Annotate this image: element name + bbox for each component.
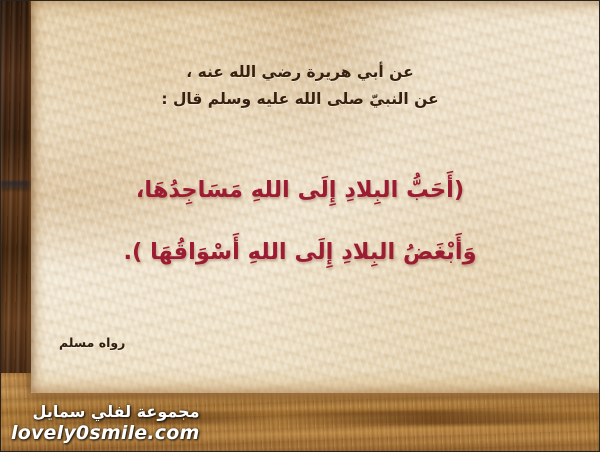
hadith-line-1: (أَحَبُّ البِلادِ إِلَى اللهِ مَسَاجِدُه… (1, 159, 599, 221)
isnad-header: عن أبي هريرة رضي الله عنه ، عن النبيّ صل… (1, 59, 599, 113)
paper-torn-edge-bottom (31, 371, 600, 399)
hadith-card: عن أبي هريرة رضي الله عنه ، عن النبيّ صل… (0, 0, 600, 452)
hadith-line-2: وَأَبْغَضُ البِلادِ إِلَى اللهِ أَسْوَاق… (1, 221, 599, 283)
watermark: مجموعة لفلي سمايل lovely0smile.com (11, 402, 200, 445)
paper-torn-edge-top (31, 0, 600, 19)
watermark-url: lovely0smile.com (11, 422, 200, 445)
isnad-line-2: عن النبيّ صلى الله عليه وسلم قال : (1, 86, 599, 113)
watermark-arabic-name: مجموعة لفلي سمايل (11, 402, 200, 422)
narrator-attribution: رواه مسلم (59, 335, 125, 350)
hadith-text: (أَحَبُّ البِلادِ إِلَى اللهِ مَسَاجِدُه… (1, 159, 599, 283)
isnad-line-1: عن أبي هريرة رضي الله عنه ، (1, 59, 599, 86)
